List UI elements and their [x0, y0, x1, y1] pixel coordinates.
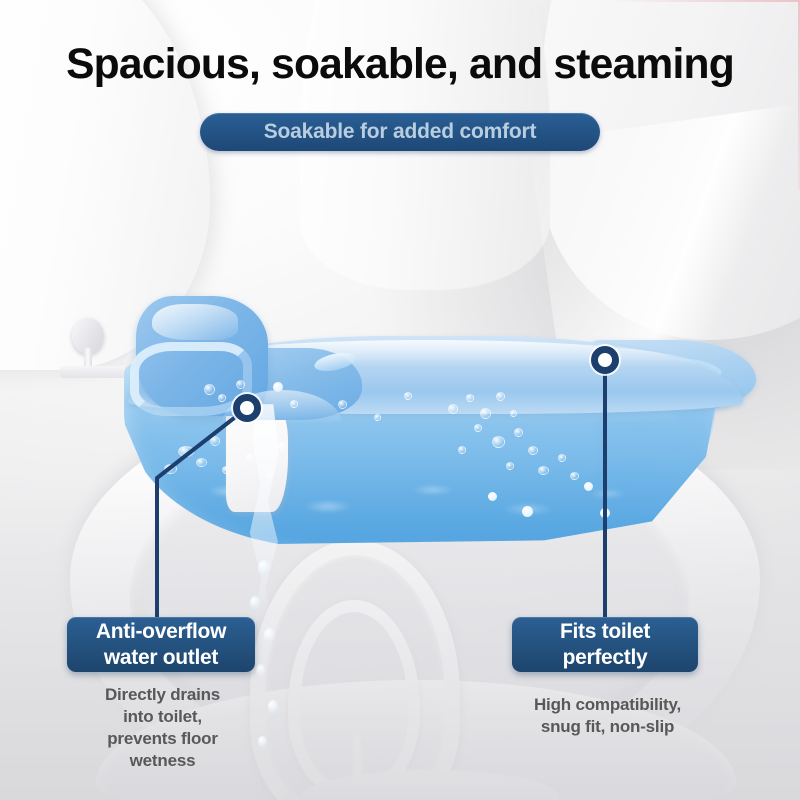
- callout-box-anti-overflow[interactable]: Anti-overflow water outlet: [67, 617, 255, 672]
- water-bubble: [338, 400, 347, 409]
- water-bubble: [222, 466, 231, 474]
- water-bubble: [236, 380, 245, 389]
- callout-box-fits-toilet[interactable]: Fits toilet perfectly: [512, 617, 698, 672]
- basin-spout-highlight: [152, 304, 238, 340]
- callout-description-anti-overflow: Directly drains into toilet, prevents fl…: [60, 684, 265, 772]
- sitz-bath-basin: [118, 296, 758, 556]
- water-bubble: [510, 410, 517, 417]
- water-bubble: [480, 408, 491, 419]
- page-title: Spacious, soakable, and steaming: [4, 40, 796, 89]
- water-bubble: [474, 424, 482, 432]
- water-droplet: [256, 664, 265, 677]
- water-droplet: [268, 700, 278, 714]
- water-bubble: [210, 436, 220, 446]
- water-bubble: [278, 442, 286, 450]
- water-bubble: [488, 492, 497, 501]
- water-bubble: [558, 454, 566, 462]
- water-bubble: [218, 394, 226, 402]
- image-edge-tint-top: [610, 0, 800, 2]
- callout-marker-fits-toilet[interactable]: [591, 346, 619, 374]
- water-bubble: [178, 446, 194, 457]
- water-bubble: [492, 436, 505, 448]
- water-bubble: [458, 446, 466, 454]
- callout-description-fits-toilet: High compatibility, snug fit, non-slip: [500, 694, 715, 738]
- water-bubble: [290, 400, 298, 408]
- water-bubble: [522, 506, 533, 517]
- water-bubble: [374, 414, 381, 421]
- callout-title-anti-overflow: Anti-overflow water outlet: [96, 619, 226, 671]
- water-bubble: [164, 464, 177, 474]
- water-bubble: [273, 382, 283, 392]
- water-droplet: [264, 628, 275, 643]
- water-bubble: [204, 384, 215, 395]
- water-bubble: [466, 394, 474, 402]
- water-bubble: [514, 428, 523, 437]
- water-bubble: [448, 404, 458, 414]
- subtitle-pill[interactable]: Soakable for added comfort: [200, 113, 600, 151]
- water-bubble: [404, 392, 412, 400]
- callout-marker-anti-overflow[interactable]: [233, 394, 261, 422]
- callout-title-fits-toilet: Fits toilet perfectly: [560, 619, 650, 671]
- water-bubble: [570, 472, 579, 480]
- water-bubble: [584, 482, 593, 491]
- water-droplet: [250, 596, 260, 610]
- water-bubble: [196, 458, 207, 467]
- water-bubble: [246, 454, 253, 461]
- water-bubble: [496, 392, 505, 401]
- water-bubble: [506, 462, 514, 470]
- water-droplet: [258, 560, 270, 576]
- water-bubble: [600, 508, 610, 518]
- water-bubble: [528, 446, 538, 455]
- product-marketing-image: Anti-overflow water outlet Directly drai…: [0, 0, 800, 800]
- water-bubble: [538, 466, 549, 475]
